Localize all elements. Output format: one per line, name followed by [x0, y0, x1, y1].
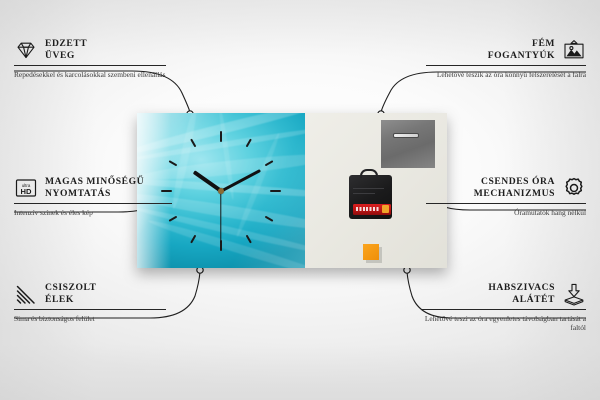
feature-silent-mechanism[interactable]: CSENDES ÓRA MECHANIZMUS Óramutatók hang …: [426, 176, 586, 217]
feature-title-line1: HABSZIVACS: [488, 282, 555, 293]
mechanism-ridge: [353, 188, 384, 189]
feature-title-line2: FOGANTYÚK: [488, 50, 555, 61]
clock-mechanism-part: [349, 175, 392, 219]
metal-hanger-part: [381, 120, 435, 168]
picture-hanger-icon: [562, 38, 586, 62]
divider: [14, 309, 166, 310]
feature-description: Lehetővé teszi az óra egyenletes távolsá…: [422, 314, 586, 333]
divider: [426, 203, 586, 204]
feature-title-line1: MAGAS MINŐSÉGŰ: [45, 176, 144, 187]
clock-minute-hand: [220, 169, 260, 192]
feature-description: Repedésekkel és karcolásokkal szembeni e…: [14, 70, 166, 79]
feature-description: Intenzív színek és éles kép: [14, 208, 172, 217]
ultra-hd-icon: ultra HD: [14, 176, 38, 200]
battery-part: [353, 204, 391, 215]
gear-icon: [562, 176, 586, 200]
feature-title-line2: MECHANIZMUS: [474, 188, 555, 199]
foam-pad-icon: [562, 282, 586, 306]
feature-title-line1: EDZETT: [45, 38, 87, 49]
divider: [422, 309, 586, 310]
diamond-icon: [14, 38, 38, 62]
feature-description: Óramutatók hang nélkül: [426, 208, 586, 217]
feature-description: Sima és biztonságos felület: [14, 314, 166, 323]
feature-foam-pad[interactable]: HABSZIVACS ALÁTÉT Lehetővé teszi az óra …: [422, 282, 586, 332]
mechanism-loop: [360, 169, 378, 178]
divider: [14, 65, 166, 66]
clock-center-cap: [218, 188, 224, 194]
mechanism-ridge: [353, 193, 375, 194]
feature-title-line2: ÉLEK: [45, 294, 74, 305]
divider: [14, 203, 172, 204]
product-image: [137, 113, 447, 268]
svg-text:HD: HD: [21, 187, 32, 196]
feature-title-line1: FÉM: [532, 38, 555, 49]
feature-title-line2: ALÁTÉT: [512, 294, 555, 305]
feature-title-line1: CSENDES ÓRA: [481, 176, 555, 187]
feature-title-line2: ÜVEG: [45, 50, 75, 61]
feature-title-line1: CSISZOLT: [45, 282, 97, 293]
foam-pad-part: [363, 244, 379, 260]
feature-polished-edges[interactable]: CSISZOLT ÉLEK Sima és biztonságos felüle…: [14, 282, 166, 323]
polished-edges-icon: [14, 282, 38, 306]
battery-plus-terminal: [382, 205, 389, 213]
battery-label: [356, 207, 380, 211]
divider: [426, 65, 586, 66]
feature-high-quality-print[interactable]: ultra HD MAGAS MINŐSÉGŰ NYOMTATÁS Intenz…: [14, 176, 172, 217]
feature-description: Lehetővé teszik az óra könnyű felszerelé…: [426, 70, 586, 79]
feature-tempered-glass[interactable]: EDZETT ÜVEG Repedésekkel és karcolásokka…: [14, 38, 166, 79]
feature-metal-handles[interactable]: FÉM FOGANTYÚK Lehetővé teszik az óra kön…: [426, 38, 586, 79]
hanger-slot: [393, 133, 419, 138]
feature-title-line2: NYOMTATÁS: [45, 188, 111, 199]
clock-second-hand: [220, 191, 221, 243]
